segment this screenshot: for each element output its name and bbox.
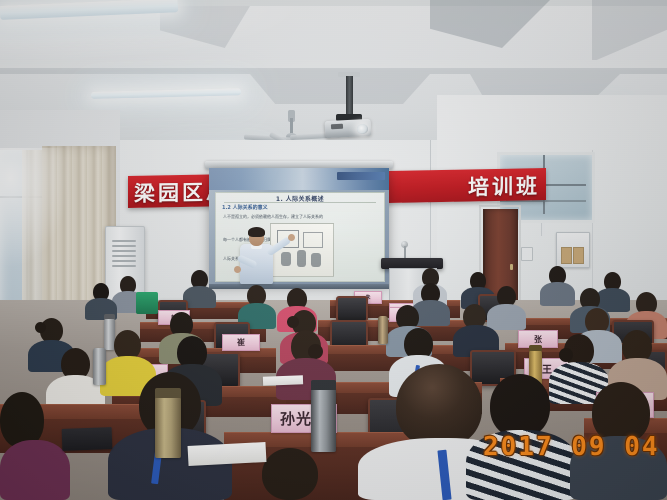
chair-row2-b[interactable] [336,296,368,322]
name-card-row3-a: 崔 [222,334,260,351]
paper-front [188,442,267,466]
attendee-head-front-6 [262,448,318,500]
panel-insert-left [561,247,572,264]
fan-rod [290,118,293,134]
notebook-front [62,427,113,451]
ac-grill-6 [112,265,136,267]
slide-bullet-1: 人不是孤立的，必须依赖他人而生存，建立了人际关系的 [223,214,323,219]
banner-text-right: 培训班 [468,170,540,201]
slide-logo [337,172,385,180]
presenter-hand-raised [288,234,295,241]
thermos-lid-row3-a [104,314,115,319]
projector-lens [357,124,368,134]
ac-grill-5 [112,260,136,262]
projector-vent [331,124,343,130]
attendee-body-row2-4 [487,304,526,330]
sketch-figure-a [281,252,291,266]
paper-row4 [263,375,303,385]
thermos-row3-b [378,316,388,344]
attendee-body-front-5 [0,440,70,500]
ac-grill-2 [112,245,136,247]
thermos-front-bamboo-lid [155,388,181,398]
thermos-front-bamboo [155,396,181,458]
presenter-hand-lower [234,266,241,273]
attendee-head-front-3 [490,374,550,438]
camera-date-stamp: 2017 09 04 [483,432,660,462]
ac-grill-1 [112,240,136,242]
panel-insert-right [573,247,584,264]
slide-subtitle: 1.2 人际关系的意义 [222,204,268,211]
thermos-lid-row4-a [529,345,542,351]
slide-title-rule [224,202,376,203]
attendee-body-far-6 [540,282,575,306]
projector-pole [346,76,353,116]
thermos-front-steel-lid [311,380,336,390]
attendee-head-front-2-bald [396,364,482,448]
ac-grill-3 [112,250,136,252]
thermos-front-steel [311,388,336,452]
window-glow [0,148,70,268]
sketch-figure-b [297,250,306,267]
ceiling-beam-shadow-d [250,74,430,104]
ac-grill-4 [112,255,136,257]
door-knob[interactable] [510,264,513,270]
sketch-figure-c [311,253,321,267]
attendee-bun-row3-3 [35,322,46,333]
presenter-hair [248,227,265,237]
light-switch[interactable] [521,247,533,261]
attendee-bun-row3-1 [287,316,299,328]
photo-canvas: 梁园区总 培训班 1. 人际关系概述 1.2 人际关系的意义 人不是孤立的，必须… [0,0,667,500]
sketch-frame-b [303,232,323,248]
attendee-bun-row4-4 [559,348,573,362]
ceiling-beam-mid-shadow [0,68,667,74]
green-bag [136,292,158,314]
thermos-row4-b [93,348,106,385]
slide-illustration [270,223,334,277]
attendee-bun-row4-1 [308,344,323,359]
